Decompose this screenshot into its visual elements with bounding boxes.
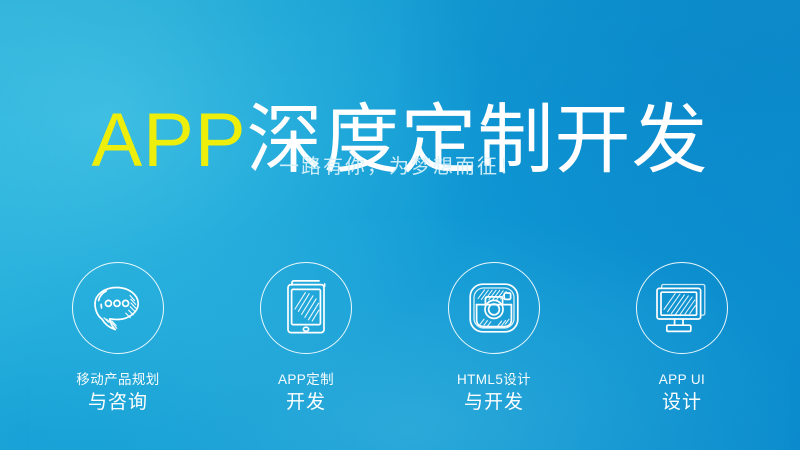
- feature-labels: HTML5设计 与开发: [457, 371, 531, 415]
- feature-label-bottom: 与开发: [457, 390, 531, 415]
- feature-item-html5-design[interactable]: HTML5设计 与开发: [400, 262, 588, 415]
- icon-circle: [448, 262, 540, 354]
- feature-label-bottom: 与咨询: [76, 390, 159, 415]
- icon-circle: [72, 262, 164, 354]
- promo-banner: APP深度定制开发 一路有你，为梦想而征！: [0, 0, 800, 450]
- monitor-icon: [653, 282, 711, 334]
- feature-list: 移动产品规划 与咨询: [0, 262, 800, 415]
- feature-label-top: APP UI: [659, 371, 705, 389]
- camera-icon: [466, 280, 522, 336]
- feature-label-top: APP定制: [278, 371, 334, 389]
- feature-item-consulting[interactable]: 移动产品规划 与咨询: [24, 262, 212, 415]
- icon-circle: [260, 262, 352, 354]
- feature-item-app-development[interactable]: APP定制 开发: [212, 262, 400, 415]
- feature-item-app-ui-design[interactable]: APP UI 设计: [588, 262, 776, 415]
- feature-labels: 移动产品规划 与咨询: [76, 371, 159, 415]
- feature-label-bottom: 开发: [278, 390, 334, 415]
- feature-label-top: 移动产品规划: [76, 371, 159, 389]
- icon-circle: [636, 262, 728, 354]
- speech-bubble-icon: [90, 282, 146, 334]
- page-subtitle: 一路有你，为梦想而征！: [0, 150, 800, 179]
- feature-label-bottom: 设计: [659, 390, 705, 415]
- feature-labels: APP UI 设计: [659, 371, 705, 415]
- tablet-icon: [280, 279, 332, 337]
- feature-label-top: HTML5设计: [457, 371, 531, 389]
- feature-labels: APP定制 开发: [278, 371, 334, 415]
